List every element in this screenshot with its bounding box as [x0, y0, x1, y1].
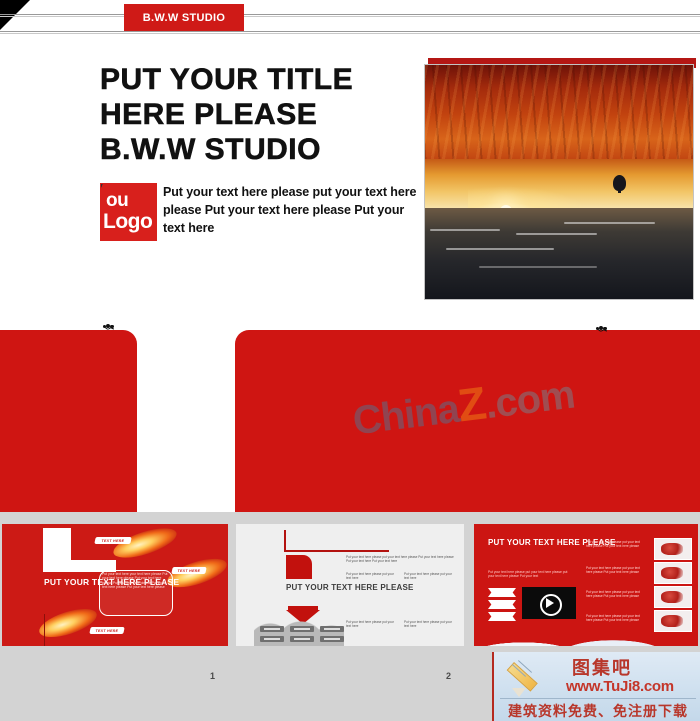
slide-row-text: Put your text here please put your text …	[586, 540, 644, 548]
tag-label: TEXT HERE	[89, 627, 124, 634]
header-rule	[0, 33, 700, 34]
site-url: www.TuJi8.com	[566, 678, 674, 695]
slide-column-text: Put your text here please put your text …	[346, 572, 398, 580]
tag-label: TEXT HERE	[171, 567, 206, 574]
chip-button	[320, 636, 344, 642]
slide-column-text: Put your text here please put your text …	[404, 620, 456, 628]
red-accent-block	[286, 555, 312, 579]
chip-button	[290, 626, 314, 632]
chip-button	[260, 636, 284, 642]
hot-air-balloon-icon	[613, 175, 626, 191]
thumbnail-slide-3[interactable]: PUT YOUR TEXT HERE PLEASE Put your text …	[474, 524, 698, 646]
wave-crest	[564, 222, 655, 224]
red-panel-left	[0, 330, 137, 512]
thumbnail-slide-1[interactable]: PUT YOUR TEXT HERE PLEASE Put your text …	[2, 524, 228, 646]
chip-button	[320, 626, 344, 632]
wave-crest	[446, 248, 553, 250]
black-triangle-icon	[0, 0, 30, 30]
slide-column-text: Put your text here please put your text …	[404, 572, 456, 580]
hero-section: PUT YOUR TITLE HERE PLEASE B.W.W STUDIO …	[0, 48, 700, 318]
header-rule	[0, 31, 700, 32]
slide-row-text: Put your text here please put your text …	[586, 566, 644, 574]
title-line-1: PUT YOUR TITLE	[100, 62, 420, 97]
slide-body-text: Put your text here please put your text …	[346, 555, 458, 563]
logo-and-text-row: ✦ ou Logo Put your text here please put …	[100, 183, 420, 241]
title-line-3: B.W.W STUDIO	[100, 132, 420, 167]
connector-line	[284, 550, 389, 552]
ant-icon	[103, 323, 114, 329]
zigzag-shape	[488, 600, 516, 609]
sunset-balloon-image	[424, 64, 694, 300]
page-number-2: 2	[446, 671, 451, 681]
brand-chip: B.W.W STUDIO	[124, 4, 244, 31]
ant-icon	[596, 325, 607, 331]
brand-chip-label: B.W.W STUDIO	[143, 12, 225, 24]
hills-graphic	[254, 620, 344, 646]
logo-line-2: Logo	[103, 210, 152, 234]
image-thumbnail	[654, 538, 692, 560]
site-cn-tagline: 建筑资料免费、免注册下载	[508, 701, 688, 721]
play-triangle-icon	[546, 598, 554, 608]
page-title: PUT YOUR TITLE HERE PLEASE B.W.W STUDIO	[100, 62, 420, 167]
slide-column-text: Put your text here please put your text …	[346, 620, 398, 628]
chip-button	[290, 636, 314, 642]
image-thumbnail	[654, 562, 692, 584]
zigzag-shape	[488, 588, 516, 597]
red-panel-right	[235, 330, 700, 512]
snow-graphic	[474, 616, 698, 646]
tag-label: TEXT HERE	[94, 537, 131, 544]
slide-subtext: Put your text here please put your text …	[488, 570, 574, 579]
site-cn-title: 图集吧	[572, 654, 632, 680]
cloud-streaks	[425, 65, 693, 168]
wave-crest	[479, 266, 597, 268]
pencil-ruler-icon	[508, 658, 556, 696]
red-panels-section	[0, 322, 700, 512]
slide-body-text: Put your text here your text here please…	[102, 572, 168, 590]
connector-line	[44, 614, 45, 646]
chip-button	[260, 626, 284, 632]
divider	[500, 698, 696, 699]
slide-heading: PUT YOUR TEXT HERE PLEASE	[286, 583, 414, 593]
wave-crest	[430, 229, 500, 231]
page-number-1: 1	[210, 671, 215, 681]
header-rule	[0, 14, 700, 15]
header-rule	[0, 16, 700, 17]
slide-row-text: Put your text here please put your text …	[586, 590, 644, 598]
hero-photo	[424, 58, 696, 298]
logo-line-1: ou	[106, 190, 128, 212]
template-preview-page: B.W.W STUDIO PUT YOUR TITLE HERE PLEASE …	[0, 0, 700, 721]
connector-line	[284, 530, 286, 552]
your-logo-placeholder: ✦ ou Logo	[100, 183, 157, 241]
hero-body-text: Put your text here please put your text …	[163, 183, 420, 237]
site-watermark-overlay: 图集吧 www.TuJi8.com 建筑资料免费、免注册下载	[492, 652, 700, 721]
white-block	[43, 528, 71, 560]
image-thumbnail	[654, 586, 692, 608]
title-line-2: HERE PLEASE	[100, 97, 420, 132]
page-header: B.W.W STUDIO	[0, 0, 700, 48]
thumbnail-slide-2[interactable]: PUT YOUR TEXT HERE PLEASE Put your text …	[236, 524, 464, 646]
